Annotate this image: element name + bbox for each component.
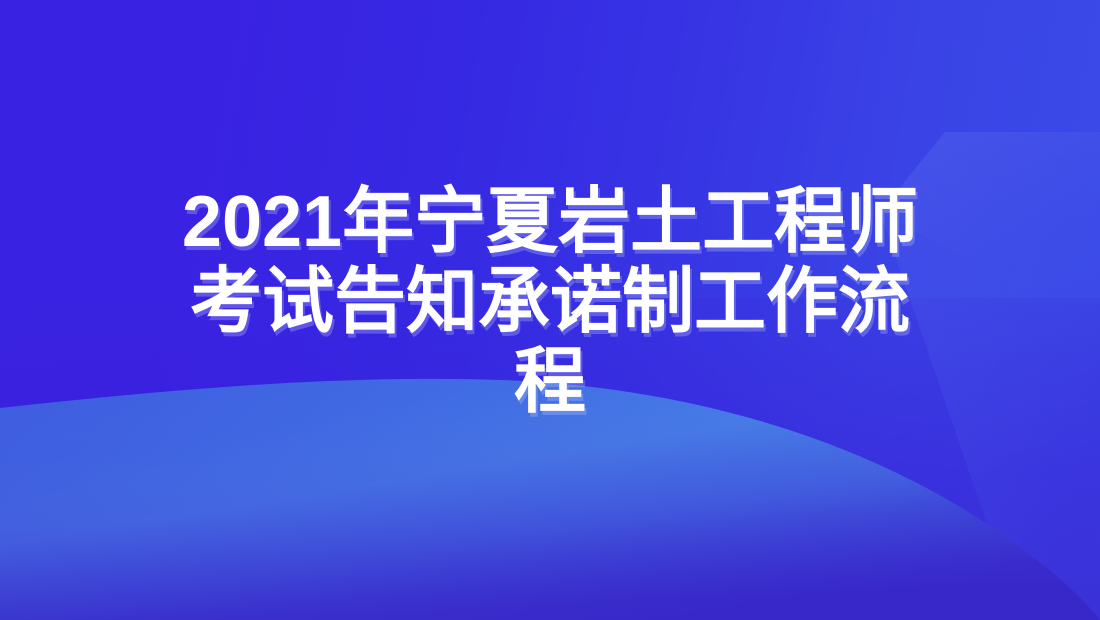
title-line-1: 2021年宁夏岩土工程师 bbox=[150, 182, 950, 262]
title-line-3: 程 bbox=[150, 342, 950, 422]
title-line-2: 考试告知承诺制工作流 bbox=[150, 262, 950, 342]
banner-title: 2021年宁夏岩土工程师 考试告知承诺制工作流 程 bbox=[150, 182, 950, 422]
banner-image: 2021年宁夏岩土工程师 考试告知承诺制工作流 程 bbox=[0, 0, 1100, 620]
